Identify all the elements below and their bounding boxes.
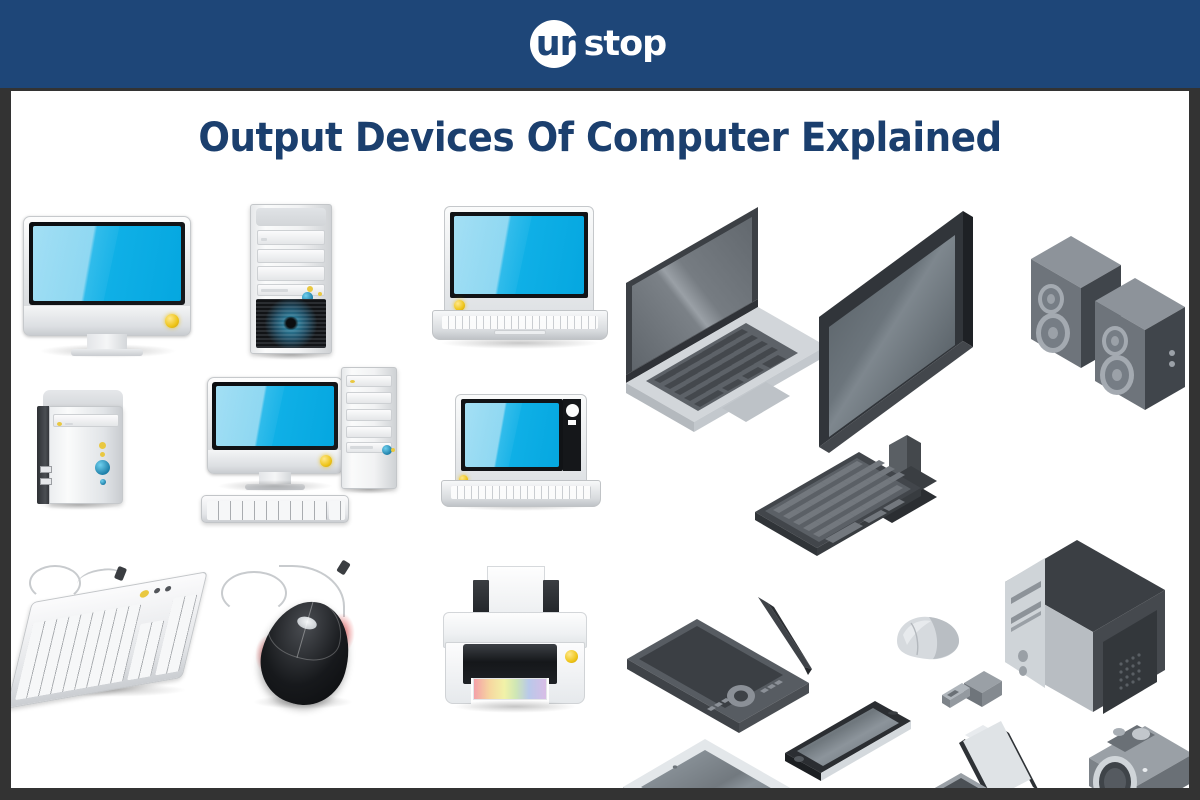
device-flat-laptop — [432, 206, 608, 351]
netbook-display-glass — [465, 403, 559, 467]
speaker-knob-1-icon[interactable] — [1169, 350, 1175, 356]
floppy-slot — [261, 289, 288, 293]
slim-tower-chassis — [341, 367, 397, 489]
laptop-screen — [450, 212, 588, 298]
page-root: un stop Output Devices Of Computer Expla… — [0, 0, 1200, 800]
tower-power-button-icon — [1018, 650, 1028, 662]
device-flat-slim-tower — [341, 367, 397, 495]
logo-text-un: un — [534, 27, 584, 62]
speaker-left-woofer — [1036, 313, 1070, 353]
device-iso-stylus[interactable] — [746, 591, 826, 676]
tower-chassis — [250, 204, 332, 354]
monitor2-screen — [212, 382, 338, 450]
printer-paper-tray — [487, 566, 545, 618]
keyboard-led-3-icon — [164, 586, 171, 592]
monitor-power-button-icon[interactable] — [165, 314, 179, 328]
slim-hdd-led-icon — [391, 448, 395, 452]
mini-power-button-icon[interactable] — [95, 460, 110, 475]
iso-speaker-right — [1095, 278, 1185, 410]
netbook-screen — [461, 399, 563, 471]
iso-monitor-panel — [819, 211, 973, 453]
tower-fan-grille — [256, 299, 326, 348]
fan-hub — [282, 317, 300, 330]
speaker-right-tweeter — [1102, 326, 1128, 356]
laptop-keyboard[interactable] — [442, 316, 598, 329]
page-title: Output Devices Of Computer Explained — [52, 115, 1148, 161]
printer-paper-guide-right[interactable] — [543, 580, 559, 616]
shadow — [217, 480, 333, 492]
keyboard-led-1-icon — [139, 589, 150, 598]
printer-paper-feed — [959, 721, 1039, 788]
device-flat-netbook — [441, 394, 601, 514]
device-flat-monitor-keyboard — [201, 377, 349, 523]
mouse-usb-plug-icon — [336, 560, 351, 576]
speaker-right-woofer — [1100, 355, 1134, 395]
iso-camera-svg — [1083, 716, 1189, 788]
drive-bay-3 — [257, 266, 324, 281]
slim-bay-3 — [346, 409, 391, 421]
iso-tower-pc-svg — [999, 506, 1184, 731]
device-flat-mouse — [217, 557, 377, 713]
printer-color-print — [473, 678, 547, 700]
iso-usb-drive-svg — [936, 661, 1006, 726]
slim-floppy-slot — [350, 446, 374, 449]
camera-focus-led-icon — [1143, 768, 1148, 772]
device-iso-laptop — [618, 203, 828, 453]
site-header: un stop — [0, 0, 1200, 88]
mini-eject-led-icon — [57, 422, 62, 426]
device-flat-tower-pc — [250, 204, 332, 359]
camera-shutter-button-icon[interactable] — [1132, 728, 1150, 740]
keyboard-key-grid — [207, 501, 327, 520]
device-iso-speakers — [1029, 211, 1189, 451]
keyboard-main-key-grid — [15, 604, 141, 700]
speaker-knob-2-icon[interactable] — [1169, 361, 1175, 367]
netbook-speaker-grille — [568, 420, 576, 425]
illustration-canvas: Output Devices Of Computer Explained — [11, 91, 1189, 788]
device-iso-tower-pc — [999, 506, 1184, 731]
iso-printer-svg — [873, 721, 1048, 788]
device-iso-camera[interactable] — [1083, 716, 1189, 788]
unstop-logo[interactable]: un stop — [534, 18, 667, 70]
camera-mode-dial-icon[interactable] — [1113, 728, 1125, 736]
iso-stylus-svg — [746, 591, 826, 676]
netbook-webcam-icon — [566, 404, 579, 417]
tower-top-panel — [256, 208, 326, 226]
monitor-display-glass — [33, 226, 181, 301]
keyboard-usb-plug-icon — [114, 566, 127, 581]
speaker-left-tweeter — [1038, 284, 1064, 314]
laptop-display-glass — [454, 216, 584, 294]
mini-eject-slot[interactable] — [65, 423, 73, 425]
device-flat-keyboard — [19, 559, 195, 709]
iso-speakers-svg — [1029, 211, 1189, 451]
phone-earpiece-icon — [888, 711, 898, 715]
keyboard-numpad-key-grid — [155, 594, 197, 675]
mini-status-led-icon — [99, 442, 106, 449]
logo-text-stop: stop — [584, 27, 667, 62]
phone-home-button-icon[interactable] — [794, 756, 804, 762]
mini-optical-bay — [53, 414, 119, 427]
keyboard-led-2-icon — [153, 588, 160, 594]
desktop-keyboard[interactable] — [201, 495, 349, 523]
monitor2-display-glass — [216, 386, 334, 446]
printer-paper-guide-left[interactable] — [473, 580, 489, 616]
slim-eject-led-icon — [350, 380, 355, 383]
shadow — [453, 700, 577, 713]
slim-bay-2 — [346, 392, 391, 404]
monitor2-power-button-icon[interactable] — [320, 455, 332, 467]
mini-hdd-led-icon — [100, 452, 105, 457]
device-iso-keyboard[interactable] — [751, 446, 926, 566]
tablet-camera-icon — [673, 765, 677, 768]
device-flat-monitor — [17, 216, 197, 361]
monitor-stand-base — [71, 349, 143, 356]
keyboard-numpad-grid — [329, 501, 345, 520]
mini-usb-port-1 — [40, 466, 52, 473]
printer-power-button-icon[interactable] — [565, 650, 578, 663]
optical-drive-bay — [257, 230, 324, 245]
content-frame: Output Devices Of Computer Explained — [0, 88, 1200, 800]
device-flat-printer — [435, 566, 595, 714]
iso-keyboard-svg — [751, 446, 926, 566]
iso-laptop-svg — [618, 203, 828, 453]
tower-front-panel — [1005, 558, 1045, 688]
mini-reset-button-icon[interactable] — [100, 479, 106, 485]
device-iso-printer — [873, 721, 1048, 788]
drive-bay-2 — [257, 249, 324, 264]
mini-usb-port-2 — [40, 478, 52, 485]
device-iso-usb-drive[interactable] — [936, 661, 1006, 726]
device-flat-mini-tower — [33, 390, 125, 510]
tower-led-icon — [1019, 666, 1027, 676]
optical-drive-eject-icon[interactable] — [261, 238, 267, 241]
slim-bay-4 — [346, 426, 391, 438]
laptop-touchpad[interactable] — [494, 330, 546, 335]
netbook-keyboard[interactable] — [451, 486, 591, 499]
monitor-screen — [29, 222, 185, 305]
